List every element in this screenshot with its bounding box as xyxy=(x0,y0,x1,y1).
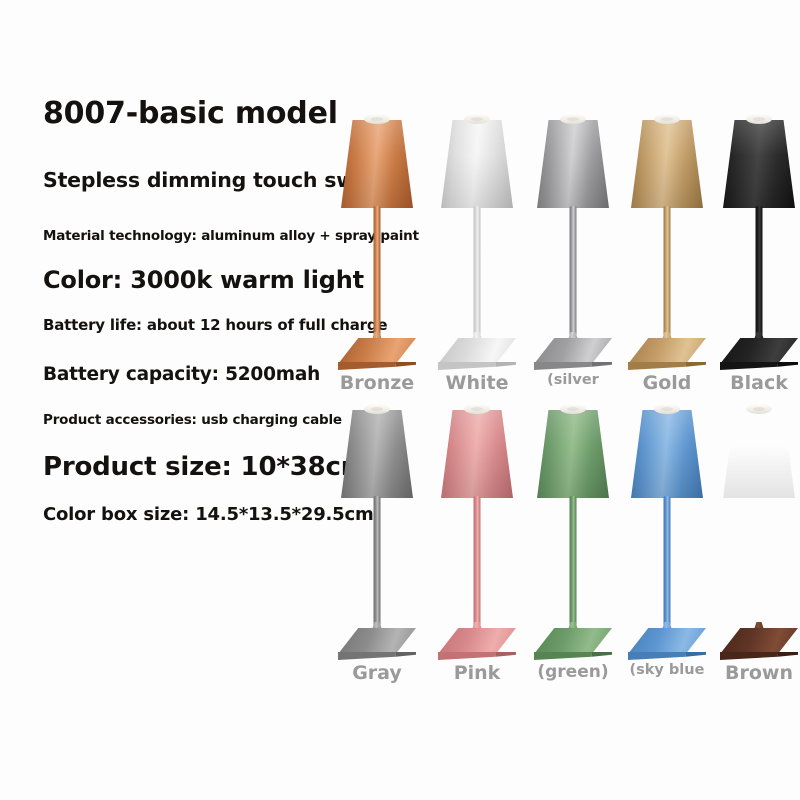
lamp-pole xyxy=(474,206,481,342)
lamp-swatch[interactable]: Gold xyxy=(620,110,714,400)
lamp-swatch[interactable]: (sky blue xyxy=(620,400,714,690)
lamp-shade-sheen xyxy=(341,410,413,498)
lamp-shade-sheen xyxy=(723,120,795,208)
lamp-pole xyxy=(474,496,481,632)
lamp-illustration xyxy=(430,400,524,658)
lamp-shade xyxy=(441,120,513,208)
product-infographic: 8007-basic model Stepless dimming touch … xyxy=(0,0,800,800)
spec-color-box-size: Color box size: 14.5*13.5*29.5cm xyxy=(43,504,374,525)
lamp-color-label: (sky blue xyxy=(620,662,714,678)
lamp-shade-sheen xyxy=(441,120,513,208)
lamp-pole xyxy=(756,496,763,632)
lamp-base-top xyxy=(338,628,416,654)
led-diffuser-ring xyxy=(661,407,673,411)
lamp-pole xyxy=(570,206,577,342)
lamp-shade-sheen xyxy=(723,410,795,498)
lamp-color-label: Pink xyxy=(430,662,524,684)
lamp-shade xyxy=(631,120,703,208)
spec-accessories: Product accessories: usb charging cable xyxy=(43,412,342,428)
lamp-color-label: White xyxy=(430,372,524,394)
lamp-shade xyxy=(341,120,413,208)
lamp-color-label: Gold xyxy=(620,372,714,394)
lamp-swatch[interactable]: Pink xyxy=(430,400,524,690)
lamp-swatch[interactable]: Bronze xyxy=(330,110,424,400)
led-diffuser-ring xyxy=(371,117,383,121)
spec-color-temperature: Color: 3000k warm light xyxy=(43,266,364,294)
lamp-illustration xyxy=(526,110,620,368)
lamp-shade xyxy=(341,410,413,498)
lamp-shade xyxy=(537,120,609,208)
lamp-base-top xyxy=(338,338,416,364)
lamp-color-label: Bronze xyxy=(330,372,424,394)
lamp-shade xyxy=(631,410,703,498)
lamp-illustration xyxy=(526,400,620,658)
led-diffuser-ring xyxy=(567,407,579,411)
lamp-swatch[interactable]: Gray xyxy=(330,400,424,690)
lamp-base-top xyxy=(720,338,798,364)
lamp-illustration xyxy=(620,400,714,658)
lamp-shade-sheen xyxy=(341,120,413,208)
lamp-color-label: Black xyxy=(712,372,800,394)
lamp-swatch[interactable]: Brown xyxy=(712,400,800,690)
lamp-shade xyxy=(723,120,795,208)
lamp-shade xyxy=(441,410,513,498)
lamp-swatch[interactable]: (silver xyxy=(526,110,620,400)
lamp-base-top xyxy=(720,628,798,654)
lamp-shade-sheen xyxy=(537,410,609,498)
lamp-color-label: Brown xyxy=(712,662,800,684)
led-diffuser-ring xyxy=(371,407,383,411)
led-diffuser-ring xyxy=(471,407,483,411)
lamp-shade-sheen xyxy=(537,120,609,208)
led-diffuser-ring xyxy=(567,117,579,121)
lamp-base-top xyxy=(438,628,516,654)
lamp-shade xyxy=(723,410,795,498)
lamp-pole xyxy=(374,206,381,342)
lamp-base-top xyxy=(534,628,612,654)
lamp-row-bottom: GrayPink(green)(sky blueBrown xyxy=(330,400,800,690)
lamp-illustration xyxy=(330,110,424,368)
lamp-color-label: Gray xyxy=(330,662,424,684)
lamp-illustration xyxy=(430,110,524,368)
led-diffuser-ring xyxy=(471,117,483,121)
spec-product-size: Product size: 10*38cm xyxy=(43,452,368,482)
product-title: 8007-basic model xyxy=(43,96,338,131)
lamp-shade-sheen xyxy=(631,120,703,208)
lamp-color-grid: BronzeWhite(silverGoldBlackGrayPink(gree… xyxy=(330,110,800,700)
lamp-row-top: BronzeWhite(silverGoldBlack xyxy=(330,110,800,400)
led-diffuser-ring xyxy=(753,407,765,411)
lamp-pole xyxy=(664,496,671,632)
lamp-illustration xyxy=(712,110,800,368)
lamp-color-label: (green) xyxy=(526,662,620,682)
lamp-base-top xyxy=(534,338,612,364)
lamp-base-top xyxy=(438,338,516,364)
lamp-swatch[interactable]: White xyxy=(430,110,524,400)
lamp-illustration xyxy=(330,400,424,658)
lamp-swatch[interactable]: (green) xyxy=(526,400,620,690)
lamp-illustration xyxy=(620,110,714,368)
lamp-color-label: (silver xyxy=(526,372,620,388)
lamp-pole xyxy=(756,206,763,342)
led-diffuser-ring xyxy=(661,117,673,121)
lamp-base-top xyxy=(628,338,706,364)
lamp-pole xyxy=(374,496,381,632)
led-diffuser-ring xyxy=(753,117,765,121)
lamp-shade-sheen xyxy=(631,410,703,498)
lamp-pole xyxy=(664,206,671,342)
spec-battery-capacity: Battery capacity: 5200mah xyxy=(43,364,320,385)
lamp-illustration xyxy=(712,400,800,658)
lamp-pole xyxy=(570,496,577,632)
lamp-swatch[interactable]: Black xyxy=(712,110,800,400)
lamp-shade xyxy=(537,410,609,498)
lamp-base-top xyxy=(628,628,706,654)
lamp-shade-sheen xyxy=(441,410,513,498)
